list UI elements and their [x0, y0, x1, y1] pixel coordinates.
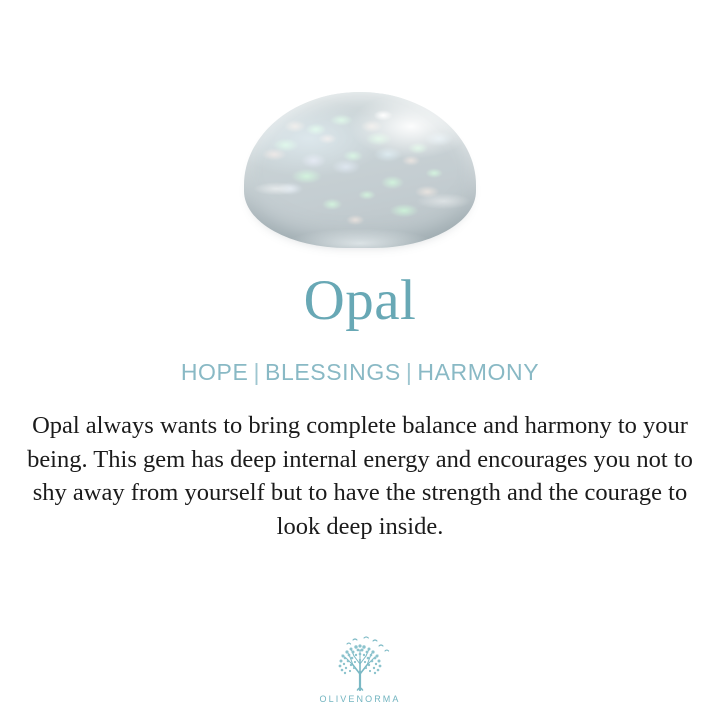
- description-text: Opal always wants to bring complete bala…: [26, 409, 694, 543]
- keyword-harmony: HARMONY: [417, 359, 539, 385]
- keyword-hope: HOPE: [181, 359, 249, 385]
- gem-body: [244, 92, 476, 248]
- page-title: Opal: [304, 272, 417, 329]
- gemstone-info-card: Opal HOPE|BLESSINGS|HARMONY Opal always …: [0, 0, 720, 720]
- opal-cabochon-image: [244, 92, 476, 248]
- keyword-separator-1: |: [248, 359, 265, 385]
- keyword-separator-2: |: [401, 359, 418, 385]
- keyword-blessings: BLESSINGS: [265, 359, 401, 385]
- brand-logo: OLIVENORMA: [0, 632, 720, 704]
- olive-tree-icon: [323, 632, 397, 692]
- gem-image-container: [0, 0, 720, 268]
- brand-wordmark: OLIVENORMA: [319, 694, 400, 704]
- keyword-subtitle: HOPE|BLESSINGS|HARMONY: [181, 359, 539, 386]
